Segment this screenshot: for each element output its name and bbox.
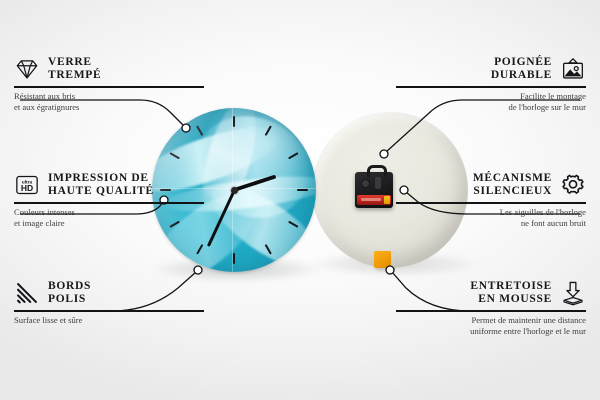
feature-mecanisme-silencieux: MÉCANISME SILENCIEUX Les aiguilles de l'… <box>396 172 586 230</box>
feature-title-line2: POLIS <box>48 293 91 306</box>
feature-title-line1: BORDS <box>48 280 91 293</box>
feature-header: MÉCANISME SILENCIEUX <box>396 172 586 198</box>
feature-divider <box>396 202 586 204</box>
press-down-foam-icon <box>560 280 586 306</box>
feature-header: ultra HD IMPRESSION DE HAUTE QUALITÉ <box>14 172 204 198</box>
ultra-hd-bottom-text: HD <box>21 183 33 193</box>
feature-titles: IMPRESSION DE HAUTE QUALITÉ <box>48 172 154 198</box>
feature-title-line2: DURABLE <box>491 69 552 82</box>
feature-divider <box>14 202 204 204</box>
feature-desc-line2: et aux égratignures <box>14 102 204 114</box>
feature-title-line2: TREMPÉ <box>48 69 101 82</box>
feature-verre-trempe: VERRE TREMPÉ Résistant aux bris et aux é… <box>14 56 204 114</box>
feature-desc-line1: Les aiguilles de l'horloge <box>396 207 586 219</box>
gear-icon <box>560 172 586 198</box>
feature-entretoise-en-mousse: ENTRETOISE EN MOUSSE Permet de maintenir… <box>396 280 586 338</box>
battery-stripe <box>361 198 381 201</box>
hanger-tab <box>367 165 387 177</box>
feature-titles: POIGNÉE DURABLE <box>491 56 552 82</box>
feature-desc-line1: Résistant aux bris <box>14 91 204 103</box>
feature-title-line1: ENTRETOISE <box>470 280 552 293</box>
feature-header: ENTRETOISE EN MOUSSE <box>396 280 586 306</box>
feature-divider <box>396 86 586 88</box>
feature-desc-line2: uniforme entre l'horloge et le mur <box>396 326 586 338</box>
feature-title-line2: EN MOUSSE <box>470 293 552 306</box>
mechanism-dial <box>361 179 370 188</box>
feature-divider <box>14 86 204 88</box>
feature-desc-line1: Permet de maintenir une distance <box>396 315 586 327</box>
diamond-icon <box>14 56 40 82</box>
feature-header: BORDS POLIS <box>14 280 204 306</box>
feature-title-line2: SILENCIEUX <box>473 185 552 198</box>
feature-desc-line2: ne font aucun bruit <box>396 218 586 230</box>
battery <box>357 195 391 205</box>
feature-impression-haute-qualite: ultra HD IMPRESSION DE HAUTE QUALITÉ Cou… <box>14 172 204 230</box>
ultra-hd-badge-icon: ultra HD <box>14 172 40 198</box>
feature-divider <box>14 310 204 312</box>
foam-spacer <box>374 251 391 268</box>
feature-desc-line2: de l'horloge sur le mur <box>396 102 586 114</box>
feature-divider <box>396 310 586 312</box>
feature-titles: BORDS POLIS <box>48 280 91 306</box>
feature-title-line1: IMPRESSION DE <box>48 172 154 185</box>
feature-titles: ENTRETOISE EN MOUSSE <box>470 280 552 306</box>
hanging-picture-icon <box>560 56 586 82</box>
feature-title-line1: VERRE <box>48 56 101 69</box>
battery-terminal <box>384 196 390 204</box>
polished-edge-icon <box>14 280 40 306</box>
feature-titles: VERRE TREMPÉ <box>48 56 101 82</box>
feature-header: POIGNÉE DURABLE <box>396 56 586 82</box>
feature-desc-line2: et image claire <box>14 218 204 230</box>
quartz-mechanism <box>355 172 393 208</box>
feature-header: VERRE TREMPÉ <box>14 56 204 82</box>
feature-title-line2: HAUTE QUALITÉ <box>48 185 154 198</box>
feature-title-line1: MÉCANISME <box>473 172 552 185</box>
feature-desc-line1: Surface lisse et sûre <box>14 315 204 327</box>
feature-poignee-durable: POIGNÉE DURABLE Facilite le montage de l… <box>396 56 586 114</box>
feature-title-line1: POIGNÉE <box>491 56 552 69</box>
infographic-stage: VERRE TREMPÉ Résistant aux bris et aux é… <box>0 0 600 400</box>
mechanism-slot <box>375 177 381 189</box>
feature-desc-line1: Facilite le montage <box>396 91 586 103</box>
feature-titles: MÉCANISME SILENCIEUX <box>473 172 552 198</box>
feature-bords-polis: BORDS POLIS Surface lisse et sûre <box>14 280 204 326</box>
feature-desc-line1: Couleurs intenses <box>14 207 204 219</box>
